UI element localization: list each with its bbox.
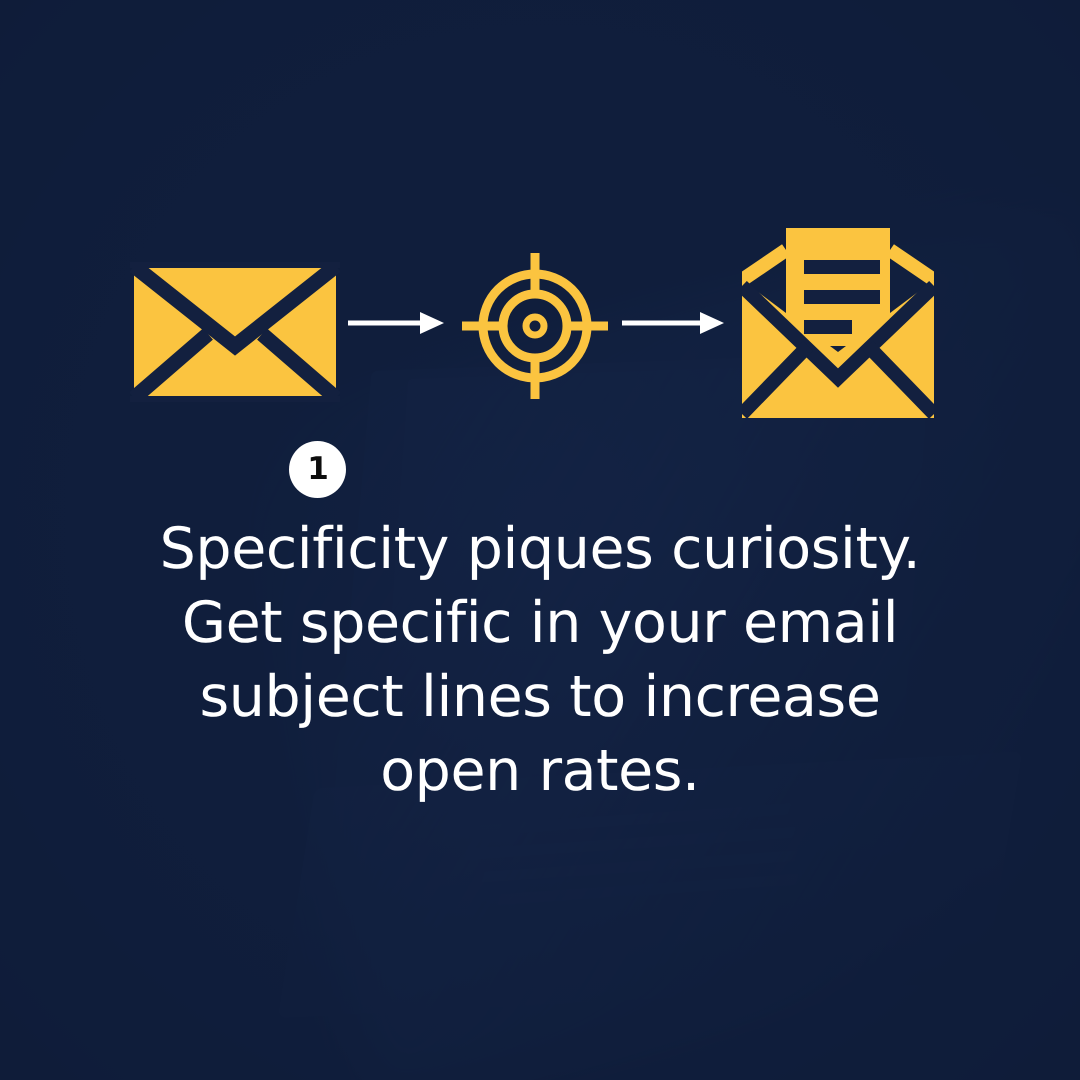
laptop-key-row (481, 850, 798, 882)
arrow-right-icon (348, 310, 448, 336)
letter-text-line (804, 260, 880, 274)
headline-line-2: Get specific in your email (90, 586, 990, 660)
notification-badge-label: 1 (307, 454, 328, 485)
letter-text-line (804, 290, 880, 304)
tip-card: 1 (0, 0, 1080, 1080)
envelope-icon (130, 262, 340, 402)
closed-envelope-icon-slot (130, 262, 340, 407)
laptop-key-row (464, 827, 796, 860)
arrow-right-icon-slot-2 (622, 310, 728, 341)
arrow-right-icon (622, 310, 728, 336)
laptop-key-row (449, 804, 791, 838)
open-envelope-icon-slot (742, 228, 934, 423)
headline-text: Specificity piques curiosity. Get specif… (90, 512, 990, 808)
open-envelope-with-letter-icon (742, 228, 934, 418)
arrow-right-icon-slot-1 (348, 310, 448, 341)
process-icon-row: 1 (0, 200, 1080, 440)
headline-line-4: open rates. (90, 734, 990, 808)
notification-badge: 1 (289, 441, 346, 498)
headline-line-3: subject lines to increase (90, 660, 990, 734)
headline-line-1: Specificity piques curiosity. (90, 512, 990, 586)
target-crosshair-icon (461, 252, 609, 400)
letter-text-line (804, 320, 852, 334)
target-icon-slot (461, 252, 609, 405)
laptop-key-row (497, 874, 798, 905)
